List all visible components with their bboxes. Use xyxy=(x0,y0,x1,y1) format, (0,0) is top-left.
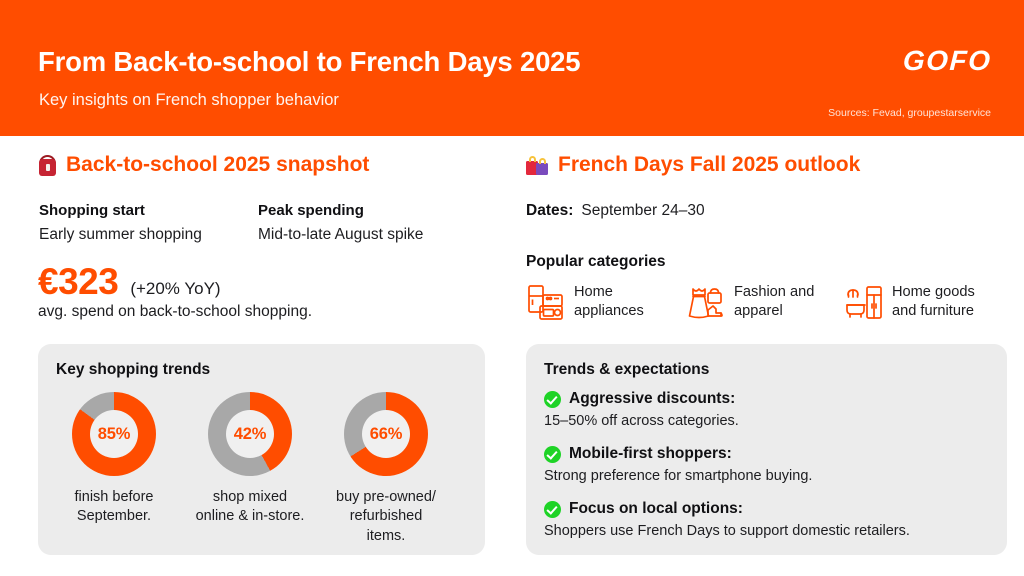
stat-value: Mid-to-late August spike xyxy=(258,226,423,244)
donut-caption: buy pre-owned/ refurbished items. xyxy=(330,488,442,546)
donut-cell: 85% finish before September. xyxy=(58,392,170,546)
donut-cell: 66% buy pre-owned/ refurbished items. xyxy=(330,392,442,546)
key-trends-panel-title: Key shopping trends xyxy=(56,361,210,379)
key-trends-panel: Key shopping trends 85% finish before Se… xyxy=(38,344,485,555)
trend-item: Aggressive discounts: 15–50% off across … xyxy=(544,390,993,429)
home-furniture-icon xyxy=(844,282,884,322)
page-title: From Back-to-school to French Days 2025 xyxy=(38,46,580,78)
category-label: Fashion and apparel xyxy=(734,283,814,320)
category-home-appliances: Home appliances xyxy=(526,282,686,322)
header-banner: From Back-to-school to French Days 2025 … xyxy=(0,0,1024,136)
donut-cell: 42% shop mixed online & in-store. xyxy=(194,392,306,546)
donut-percent-label: 66% xyxy=(370,425,402,444)
check-circle-icon xyxy=(544,446,561,463)
shopping-bags-icon xyxy=(526,155,549,176)
gofo-logo: GOFO xyxy=(902,45,992,77)
trends-panel-title: Trends & expectations xyxy=(544,361,709,379)
backpack-icon xyxy=(38,155,57,176)
stat-value: Early summer shopping xyxy=(39,226,202,244)
average-spend-caption: avg. spend on back-to-school shopping. xyxy=(38,303,312,321)
fashion-apparel-icon xyxy=(686,282,726,322)
stat-shopping-start: Shopping start Early summer shopping xyxy=(39,202,202,244)
donut-percent-label: 85% xyxy=(98,425,130,444)
popular-categories-row: Home appliances Fashion and apparel xyxy=(526,282,1008,322)
category-label: Home goods and furniture xyxy=(892,283,975,320)
category-label: Home appliances xyxy=(574,283,644,320)
check-circle-icon xyxy=(544,501,561,518)
dates-label: Dates: xyxy=(526,202,573,220)
stat-peak-spending: Peak spending Mid-to-late August spike xyxy=(258,202,423,244)
average-spend-amount: €323 xyxy=(38,261,118,303)
donut-chart-group: 85% finish before September. 42% shop mi… xyxy=(58,392,442,546)
donut-caption: shop mixed online & in-store. xyxy=(196,488,305,527)
home-appliances-icon xyxy=(526,282,566,322)
dates-value: September 24–30 xyxy=(581,202,704,220)
trend-description: 15–50% off across categories. xyxy=(544,413,993,429)
trend-title: Aggressive discounts: xyxy=(569,390,735,408)
trends-list: Aggressive discounts: 15–50% off across … xyxy=(526,390,1007,555)
stat-label: Peak spending xyxy=(258,202,423,219)
right-section-title: French Days Fall 2025 outlook xyxy=(558,153,860,177)
trend-description: Shoppers use French Days to support dome… xyxy=(544,523,993,539)
right-section-heading: French Days Fall 2025 outlook xyxy=(526,153,860,177)
donut-chart-42: 42% xyxy=(208,392,292,476)
category-home-furniture: Home goods and furniture xyxy=(844,282,1008,322)
left-section-heading: Back-to-school 2025 snapshot xyxy=(38,153,369,177)
donut-chart-66: 66% xyxy=(344,392,428,476)
average-spend-yoy: (+20% YoY) xyxy=(130,279,220,299)
trend-title: Focus on local options: xyxy=(569,500,743,518)
stat-label: Shopping start xyxy=(39,202,202,219)
left-section-title: Back-to-school 2025 snapshot xyxy=(66,153,369,177)
trend-title: Mobile-first shoppers: xyxy=(569,445,732,463)
trend-item: Focus on local options: Shoppers use Fre… xyxy=(544,500,993,539)
category-fashion-apparel: Fashion and apparel xyxy=(686,282,844,322)
trend-description: Strong preference for smartphone buying. xyxy=(544,468,993,484)
dates-row: Dates: September 24–30 xyxy=(526,202,705,220)
popular-categories-title: Popular categories xyxy=(526,253,666,271)
infographic-page: From Back-to-school to French Days 2025 … xyxy=(0,0,1024,576)
check-circle-icon xyxy=(544,391,561,408)
trends-expectations-panel: Trends & expectations Aggressive discoun… xyxy=(526,344,1007,555)
sources-note: Sources: Fevad, groupestarservice xyxy=(828,107,991,119)
average-spend-highlight: €323 (+20% YoY) xyxy=(38,261,221,303)
trend-item: Mobile-first shoppers: Strong preference… xyxy=(544,445,993,484)
donut-caption: finish before September. xyxy=(75,488,154,527)
donut-chart-85: 85% xyxy=(72,392,156,476)
donut-percent-label: 42% xyxy=(234,425,266,444)
page-subtitle: Key insights on French shopper behavior xyxy=(39,91,339,110)
